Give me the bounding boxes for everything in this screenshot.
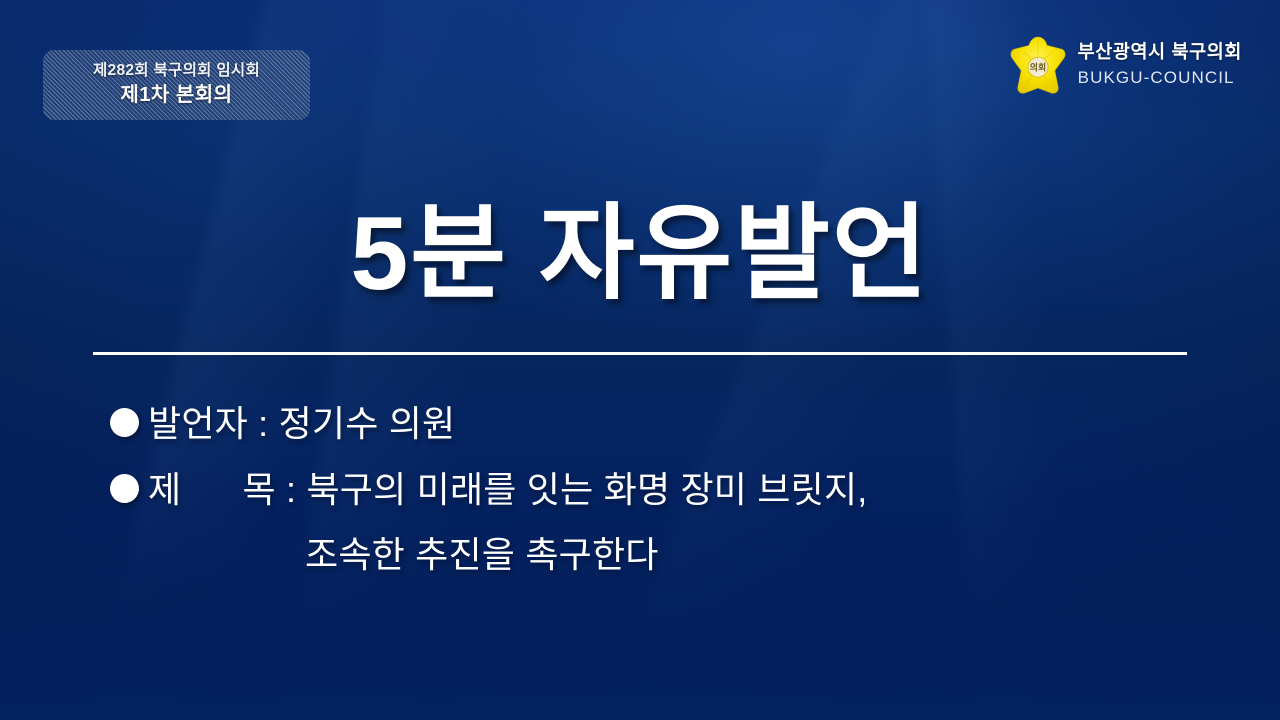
bukgu-council-emblem-icon: 의회 — [1010, 36, 1066, 94]
council-name-korean: 부산광역시 북구의회 — [1078, 41, 1242, 63]
session-number-label: 제282회 북구의회 임시회 — [93, 62, 260, 80]
emblem-inner-text: 의회 — [1029, 62, 1045, 73]
detail-row-subject: 제 목 : 북구의 미래를 잇는 화명 장미 브릿지, — [110, 466, 1220, 514]
council-logo-text: 부산광역시 북구의회 BUKGU-COUNCIL — [1078, 41, 1242, 88]
council-name-english: BUKGU-COUNCIL — [1078, 67, 1242, 89]
subject-line-continued: 조속한 추진을 촉구한다 — [305, 531, 659, 579]
speech-details: 발언자 : 정기수 의원 제 목 : 북구의 미래를 잇는 화명 장미 브릿지,… — [110, 400, 1220, 597]
presentation-slide: 제282회 북구의회 임시회 제1차 본회의 — [0, 0, 1280, 720]
council-logo: 의회 부산광역시 북구의회 BUKGU-COUNCIL — [1010, 34, 1242, 96]
session-badge: 제282회 북구의회 임시회 제1차 본회의 — [43, 50, 310, 120]
detail-row-speaker: 발언자 : 정기수 의원 — [110, 400, 1220, 448]
bullet-point-icon — [110, 474, 139, 503]
title-divider — [93, 352, 1187, 355]
slide-title: 5분 자유발언 — [0, 196, 1280, 312]
bullet-point-icon — [110, 408, 139, 437]
speaker-line: 발언자 : 정기수 의원 — [148, 400, 455, 448]
detail-row-subject-continued: 조속한 추진을 촉구한다 — [305, 531, 1220, 579]
subject-line: 제 목 : 북구의 미래를 잇는 화명 장미 브릿지, — [148, 466, 867, 514]
session-meeting-label: 제1차 본회의 — [120, 82, 232, 108]
